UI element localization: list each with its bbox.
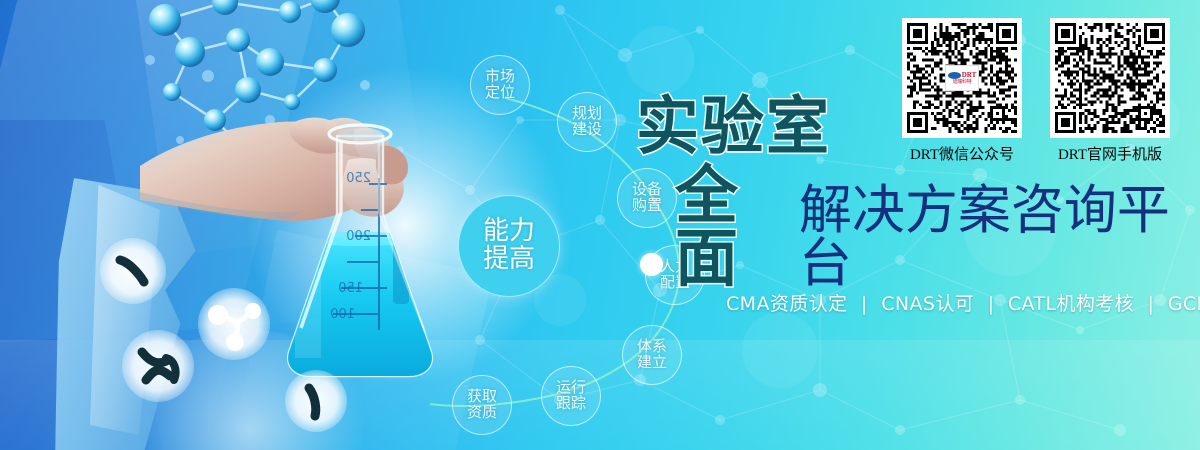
cert-separator: | <box>861 293 868 315</box>
bacillus-icon <box>285 370 347 432</box>
molecule-small-icon <box>198 288 270 360</box>
process-circle-line1: 能力 <box>483 218 535 246</box>
qr-code-website[interactable]: DRT官网手机版 <box>1050 18 1170 164</box>
process-circle-capability-improvement[interactable]: 能力提高 <box>458 195 560 297</box>
qr-code-image[interactable] <box>1050 18 1170 138</box>
bacillus-icon <box>100 238 166 304</box>
logo-text: 迪瑞科特 <box>953 80 972 85</box>
process-circle-operation-tracking[interactable]: 运行跟踪 <box>541 366 601 426</box>
laboratory-solution-banner: 250 200 150 100 <box>0 0 1200 450</box>
process-circle-obtain-qualification[interactable]: 获取资质 <box>452 375 512 435</box>
flask-icon: 250 200 150 100 <box>275 118 445 383</box>
cert-item: CMA资质认定 <box>726 293 847 315</box>
process-circle-market-positioning[interactable]: 市场定位 <box>470 55 530 115</box>
qr-code-group: DRT 迪瑞科特 DRT微信公众号 DRT官网手机版 <box>902 18 1170 164</box>
qr-caption: DRT官网手机版 <box>1050 143 1170 164</box>
process-circle-line2: 提高 <box>483 246 535 274</box>
certification-line: CMA资质认定 | CNAS认可 | CATL机构考核 | GCP认证 | 6S… <box>726 289 1200 316</box>
process-circle-line2: 建立 <box>637 355 667 371</box>
cert-item: CNAS认可 <box>881 293 974 315</box>
headline-line2-light: 解决方案咨询平台 <box>799 184 1196 290</box>
cert-item: CATL机构考核 <box>1008 293 1134 315</box>
svg-text:100: 100 <box>330 307 355 322</box>
cert-item: GCP认证 <box>1168 293 1200 315</box>
process-circle-line2: 跟踪 <box>556 396 586 412</box>
process-circle-planning-construction[interactable]: 规划建设 <box>557 92 617 152</box>
headline-line2: 全面 解决方案咨询平台 <box>636 164 1196 290</box>
process-circle-system-establish[interactable]: 体系建立 <box>622 325 682 385</box>
cert-separator: | <box>988 293 995 315</box>
logo-mark: DRT <box>962 72 977 79</box>
chromosome-icon <box>122 330 194 402</box>
qr-caption: DRT微信公众号 <box>902 143 1022 164</box>
bullet-dot-icon <box>640 253 663 276</box>
svg-text:150: 150 <box>338 281 363 296</box>
process-circle-line2: 定位 <box>485 85 515 101</box>
drt-logo-icon: DRT 迪瑞科特 <box>945 65 979 91</box>
process-circle-line2: 资质 <box>467 405 497 421</box>
svg-text:250: 250 <box>346 171 371 186</box>
qr-code-wechat[interactable]: DRT 迪瑞科特 DRT微信公众号 <box>902 18 1022 164</box>
svg-text:200: 200 <box>346 229 371 244</box>
cert-separator: | <box>1148 293 1155 315</box>
qr-code-image[interactable]: DRT 迪瑞科特 <box>902 18 1022 138</box>
headline-line2-bold: 全面 <box>675 164 795 290</box>
process-circle-line2: 建设 <box>572 122 602 138</box>
logo-oval <box>948 72 961 79</box>
